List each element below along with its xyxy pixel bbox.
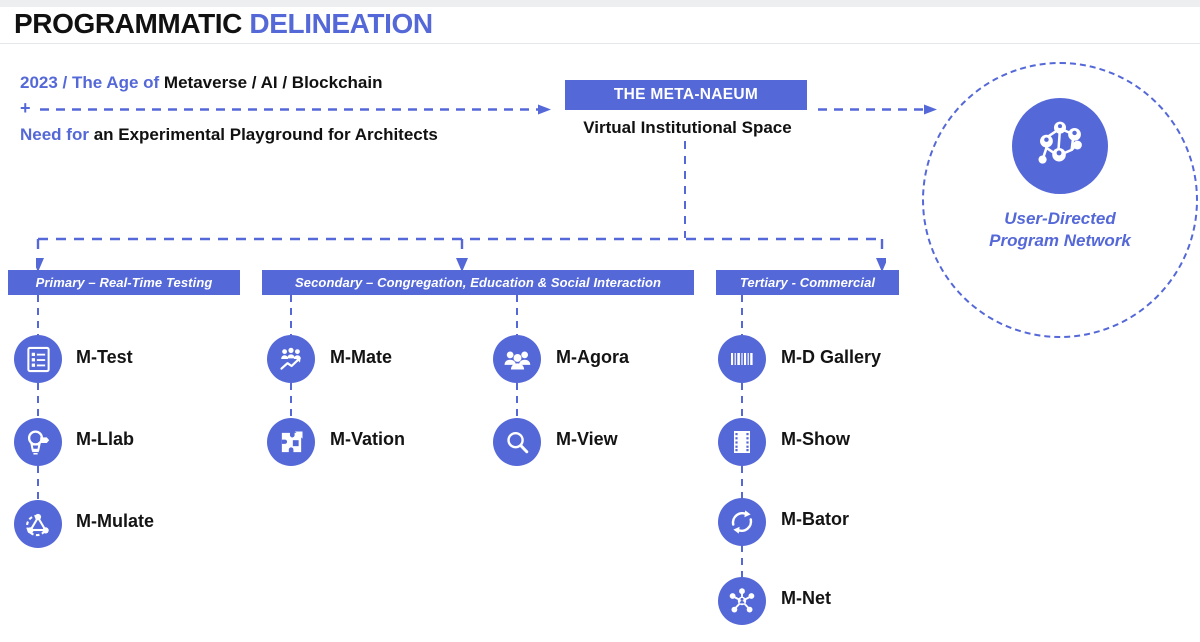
intro-line-1-accent: 2023 / The Age of [20, 73, 164, 92]
network-label-line-2: Program Network [989, 231, 1131, 250]
node-m-bator[interactable] [718, 498, 766, 546]
node-m-test[interactable] [14, 335, 62, 383]
lightbulb-tag-icon [24, 428, 52, 456]
label-m-d-gallery: M-D Gallery [781, 347, 881, 368]
connector-tertiary-3 [741, 545, 743, 578]
title-part-programmatic: PROGRAMMATIC [14, 8, 242, 39]
puzzle-piece-icon [278, 429, 305, 456]
film-strip-icon [729, 428, 755, 456]
connector-meta-to-bus [684, 141, 686, 238]
label-m-vation: M-Vation [330, 429, 405, 450]
top-strip [0, 0, 1200, 7]
intro-line-1-dark: Metaverse / AI / Blockchain [164, 73, 383, 92]
arrow-meta-to-network [818, 104, 938, 115]
node-m-vation[interactable] [267, 418, 315, 466]
intro-line-2-dark: an Experimental Playground for Architect… [94, 125, 438, 144]
triangle-nodes-icon [24, 510, 52, 538]
connector-secondary-b-1 [516, 383, 518, 418]
network-nodes-icon [1029, 115, 1091, 177]
intro-plus-sign: + [20, 99, 31, 117]
network-star-icon [728, 587, 756, 615]
intro-line-2-wrap: Need for an Experimental Playground for … [20, 124, 560, 146]
label-m-agora: M-Agora [556, 347, 629, 368]
node-m-net[interactable] [718, 577, 766, 625]
network-label-line-1: User-Directed [1004, 209, 1116, 228]
magnifier-icon [504, 429, 531, 456]
checklist-icon [25, 346, 52, 373]
connector-primary-1 [37, 383, 39, 418]
network-icon-circle[interactable] [1012, 98, 1108, 194]
title-divider [0, 43, 1200, 44]
intro-line-1: 2023 / The Age of Metaverse / AI / Block… [20, 72, 560, 94]
node-m-d-gallery[interactable] [718, 335, 766, 383]
connector-primary-2 [37, 466, 39, 501]
cycle-arrows-icon [728, 508, 756, 536]
node-m-mulate[interactable] [14, 500, 62, 548]
meta-naeum-subtitle: Virtual Institutional Space [560, 118, 815, 138]
connector-tertiary-1 [741, 383, 743, 418]
label-m-bator: M-Bator [781, 509, 849, 530]
label-m-mate: M-Mate [330, 347, 392, 368]
title-part-delineation: DELINEATION [249, 8, 432, 39]
intro-line-2-accent: Need for [20, 125, 94, 144]
intro-block: 2023 / The Age of Metaverse / AI / Block… [20, 72, 560, 94]
connector-tertiary-top [741, 295, 743, 335]
people-group-icon [503, 345, 532, 374]
people-growth-chart-icon [277, 345, 305, 373]
category-header-tertiary[interactable]: Tertiary - Commercial [716, 270, 899, 295]
category-header-secondary[interactable]: Secondary – Congregation, Education & So… [262, 270, 694, 295]
connector-secondary-a-1 [290, 383, 292, 418]
connector-secondary-b-top [516, 295, 518, 335]
label-m-show: M-Show [781, 429, 850, 450]
node-m-show[interactable] [718, 418, 766, 466]
connector-secondary-a-top [290, 295, 292, 335]
page-title: PROGRAMMATIC DELINEATION [14, 8, 433, 40]
network-label: User-Directed Program Network [942, 208, 1178, 252]
connector-primary-top [37, 295, 39, 335]
node-m-view[interactable] [493, 418, 541, 466]
label-m-net: M-Net [781, 588, 831, 609]
label-m-test: M-Test [76, 347, 133, 368]
barcode-icon [728, 346, 756, 372]
label-m-llab: M-Llab [76, 429, 134, 450]
category-header-primary[interactable]: Primary – Real-Time Testing [8, 270, 240, 295]
label-m-mulate: M-Mulate [76, 511, 154, 532]
node-m-mate[interactable] [267, 335, 315, 383]
meta-naeum-box[interactable]: THE META-NAEUM [565, 80, 807, 110]
diagram-canvas: PROGRAMMATIC DELINEATION 2023 / The Age … [0, 0, 1200, 642]
arrow-intro-to-meta [40, 104, 552, 115]
node-m-agora[interactable] [493, 335, 541, 383]
node-m-llab[interactable] [14, 418, 62, 466]
label-m-view: M-View [556, 429, 618, 450]
intro-line-2: Need for an Experimental Playground for … [20, 124, 560, 146]
connector-tertiary-2 [741, 466, 743, 499]
